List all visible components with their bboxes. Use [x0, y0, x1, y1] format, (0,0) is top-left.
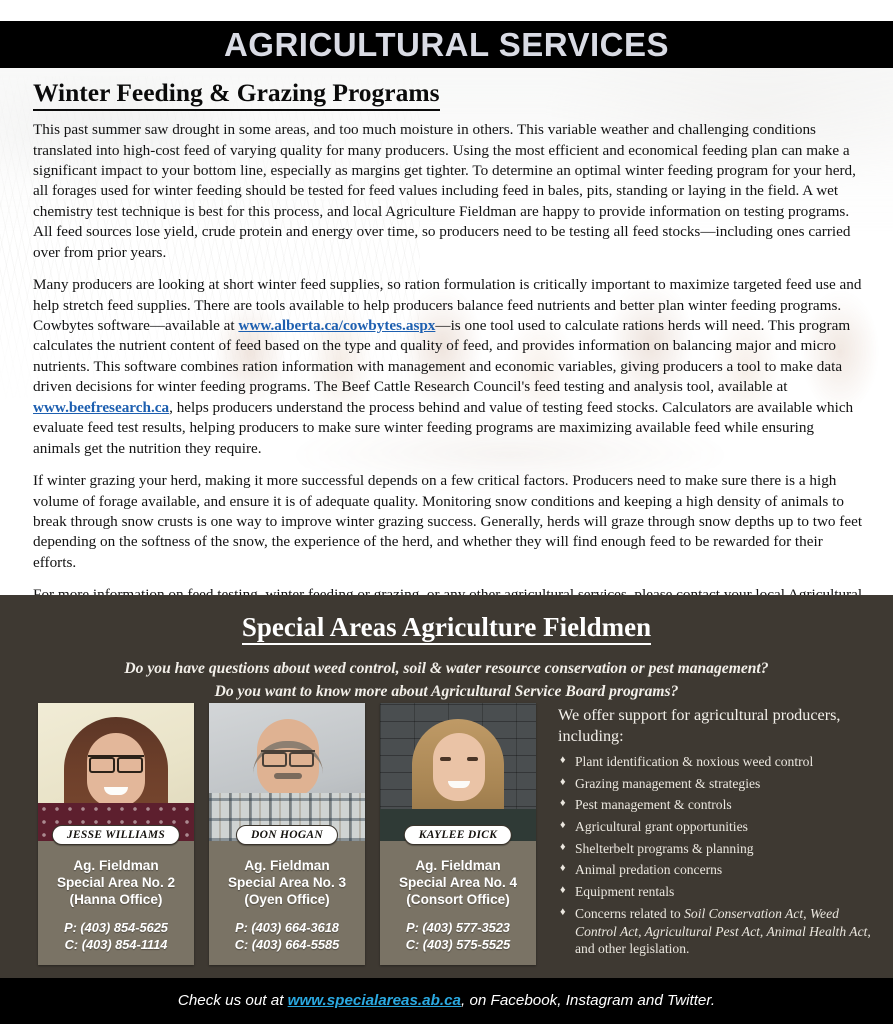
support-item-label: Agricultural grant opportunities — [575, 819, 748, 834]
beefresearch-link[interactable]: www.beefresearch.ca — [33, 399, 169, 416]
cowbytes-link[interactable]: www.alberta.ca/cowbytes.aspx — [238, 317, 435, 334]
footer-suffix: , on Facebook, Instagram and Twitter. — [461, 992, 715, 1009]
fieldman-area: Special Area No. 3 — [215, 874, 359, 891]
support-list-item: ♦ Grazing management & strategies — [558, 775, 878, 793]
specialareas-website-link[interactable]: www.specialareas.ab.ca — [288, 992, 461, 1009]
fieldman-phone[interactable]: P: (403) 577-3523 — [386, 919, 530, 936]
fieldman-office: (Hanna Office) — [44, 891, 188, 908]
paragraph-text: For more information on feed testing, wi… — [33, 586, 862, 595]
fieldman-contact-block: P: (403) 854-5625 C: (403) 854-1114 — [44, 919, 188, 953]
article-paragraph-3: If winter grazing your herd, making it m… — [33, 471, 865, 573]
paragraph-text: This past summer saw drought in some are… — [33, 121, 856, 261]
support-list-item: ♦ Plant identification & noxious weed co… — [558, 753, 878, 771]
fieldmen-card-list: JESSE WILLIAMS Ag. Fieldman Special Area… — [38, 703, 536, 965]
support-item-label: Concerns related to Soil Conservation Ac… — [575, 906, 871, 956]
fieldman-contact-block: P: (403) 664-3618 C: (403) 664-5585 — [215, 919, 359, 953]
footer-text: Check us out at www.specialareas.ab.ca, … — [178, 993, 715, 1008]
diamond-bullet-icon: ♦ — [560, 840, 566, 854]
fieldman-area: Special Area No. 2 — [44, 874, 188, 891]
fieldmen-heading: Special Areas Agriculture Fieldmen — [0, 611, 893, 643]
support-item-text: Concerns related to — [575, 906, 684, 921]
support-list-item: ♦ Shelterbelt programs & planning — [558, 840, 878, 858]
article-paragraph-1: This past summer saw drought in some are… — [33, 120, 865, 263]
fieldmen-subtitle-line-1: Do you have questions about weed control… — [0, 657, 893, 680]
support-title: We offer support for agricultural produc… — [558, 705, 878, 747]
support-item-text-tail: and other legislation. — [575, 941, 689, 956]
fieldman-cell[interactable]: C: (403) 854-1114 — [44, 936, 188, 953]
paragraph-text: If winter grazing your herd, making it m… — [33, 472, 862, 571]
fieldman-role-block: Ag. Fieldman Special Area No. 2 (Hanna O… — [44, 857, 188, 908]
article-heading: Winter Feeding & Grazing Programs — [33, 78, 440, 111]
fieldman-photo — [38, 703, 194, 841]
fieldman-card[interactable]: JESSE WILLIAMS Ag. Fieldman Special Area… — [38, 703, 194, 965]
support-services-panel: We offer support for agricultural produc… — [558, 703, 878, 962]
portrait-face — [433, 733, 485, 801]
diamond-bullet-icon: ♦ — [560, 905, 566, 919]
diamond-bullet-icon: ♦ — [560, 818, 566, 832]
support-item-label: Equipment rentals — [575, 884, 674, 899]
support-item-label: Plant identification & noxious weed cont… — [575, 754, 813, 769]
fieldman-phone[interactable]: P: (403) 854-5625 — [44, 919, 188, 936]
fieldman-role: Ag. Fieldman — [215, 857, 359, 874]
portrait-moustache — [274, 773, 302, 779]
fieldman-card[interactable]: KAYLEE DICK Ag. Fieldman Special Area No… — [380, 703, 536, 965]
fieldman-office: (Oyen Office) — [215, 891, 359, 908]
fieldman-photo — [209, 703, 365, 841]
fieldman-details: Ag. Fieldman Special Area No. 3 (Oyen Of… — [209, 841, 365, 965]
portrait-eyes — [440, 757, 478, 761]
support-item-label: Animal predation concerns — [575, 862, 722, 877]
fieldman-role-block: Ag. Fieldman Special Area No. 3 (Oyen Of… — [215, 857, 359, 908]
newsletter-page: AGRICULTURAL SERVICES Winter Feeding & G… — [0, 0, 893, 1024]
fieldman-details: Ag. Fieldman Special Area No. 4 (Consort… — [380, 841, 536, 965]
fieldman-card[interactable]: DON HOGAN Ag. Fieldman Special Area No. … — [209, 703, 365, 965]
fieldmen-heading-text: Special Areas Agriculture Fieldmen — [242, 612, 651, 645]
fieldman-details: Ag. Fieldman Special Area No. 2 (Hanna O… — [38, 841, 194, 965]
page-title: AGRICULTURAL SERVICES — [224, 28, 669, 61]
article-paragraph-4: For more information on feed testing, wi… — [33, 585, 865, 595]
support-item-label: Shelterbelt programs & planning — [575, 841, 754, 856]
glasses-icon — [88, 755, 144, 770]
support-list-item: ♦ Pest management & controls — [558, 796, 878, 814]
article-section: Winter Feeding & Grazing Programs This p… — [0, 68, 893, 595]
fieldmen-section: Special Areas Agriculture Fieldmen Do yo… — [0, 595, 893, 978]
diamond-bullet-icon: ♦ — [560, 753, 566, 767]
diamond-bullet-icon: ♦ — [560, 775, 566, 789]
fieldman-area: Special Area No. 4 — [386, 874, 530, 891]
fieldman-photo — [380, 703, 536, 841]
support-item-label: Pest management & controls — [575, 797, 732, 812]
article-paragraph-2: Many producers are looking at short wint… — [33, 275, 865, 459]
diamond-bullet-icon: ♦ — [560, 796, 566, 810]
support-list: ♦ Plant identification & noxious weed co… — [558, 753, 878, 958]
fieldmen-subtitle: Do you have questions about weed control… — [0, 657, 893, 703]
page-footer-bar: Check us out at www.specialareas.ab.ca, … — [0, 978, 893, 1024]
support-item-label: Grazing management & strategies — [575, 776, 760, 791]
support-list-item: ♦ Agricultural grant opportunities — [558, 818, 878, 836]
glasses-icon — [261, 750, 315, 764]
portrait-smile — [448, 781, 470, 788]
fieldman-cell[interactable]: C: (403) 664-5585 — [215, 936, 359, 953]
fieldman-role-block: Ag. Fieldman Special Area No. 4 (Consort… — [386, 857, 530, 908]
fieldman-cell[interactable]: C: (403) 575-5525 — [386, 936, 530, 953]
fieldman-name-badge: JESSE WILLIAMS — [52, 825, 180, 845]
diamond-bullet-icon: ♦ — [560, 883, 566, 897]
fieldman-name-badge: KAYLEE DICK — [404, 825, 512, 845]
fieldman-name-badge: DON HOGAN — [236, 825, 338, 845]
fieldman-office: (Consort Office) — [386, 891, 530, 908]
page-header-bar: AGRICULTURAL SERVICES — [0, 21, 893, 68]
support-list-item: ♦ Concerns related to Soil Conservation … — [558, 905, 878, 958]
support-list-item: ♦ Equipment rentals — [558, 883, 878, 901]
fieldman-phone[interactable]: P: (403) 664-3618 — [215, 919, 359, 936]
support-list-item: ♦ Animal predation concerns — [558, 861, 878, 879]
diamond-bullet-icon: ♦ — [560, 861, 566, 875]
fieldmen-subtitle-line-2: Do you want to know more about Agricultu… — [0, 680, 893, 703]
footer-prefix: Check us out at — [178, 992, 288, 1009]
fieldman-role: Ag. Fieldman — [386, 857, 530, 874]
fieldman-contact-block: P: (403) 577-3523 C: (403) 575-5525 — [386, 919, 530, 953]
fieldman-role: Ag. Fieldman — [44, 857, 188, 874]
